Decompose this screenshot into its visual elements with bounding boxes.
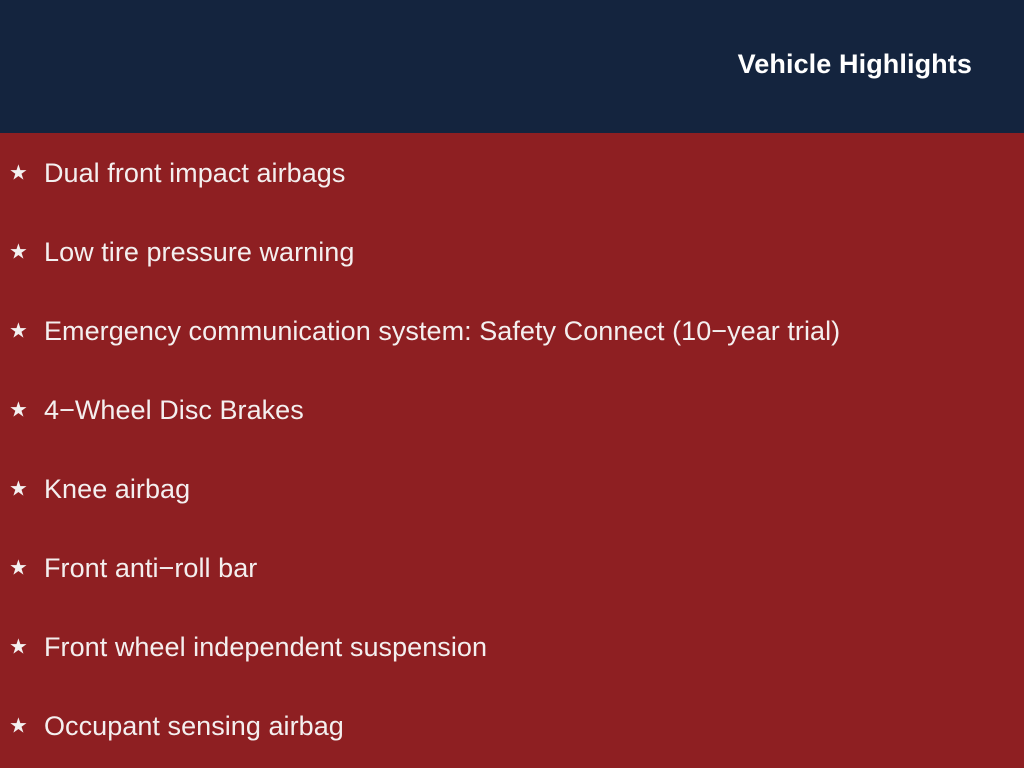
list-item-label: Knee airbag	[44, 472, 190, 506]
slide-header-band: Vehicle Highlights	[0, 0, 1024, 133]
star-icon: ★	[9, 557, 31, 578]
star-icon: ★	[9, 241, 31, 262]
list-item-label: Occupant sensing airbag	[44, 709, 344, 743]
star-icon: ★	[9, 478, 31, 499]
star-icon: ★	[9, 715, 31, 736]
list-item: ★ Dual front impact airbags	[0, 133, 1024, 212]
list-item-label: 4−Wheel Disc Brakes	[44, 393, 304, 427]
slide-body: ★ Dual front impact airbags ★ Low tire p…	[0, 133, 1024, 768]
list-item-label: Dual front impact airbags	[44, 156, 345, 190]
list-item-label: Emergency communication system: Safety C…	[44, 314, 840, 348]
star-icon: ★	[9, 636, 31, 657]
star-icon: ★	[9, 320, 31, 341]
list-item-label: Front wheel independent suspension	[44, 630, 487, 664]
page-title: Vehicle Highlights	[738, 47, 972, 81]
list-item: ★ Emergency communication system: Safety…	[0, 291, 1024, 370]
star-icon: ★	[9, 399, 31, 420]
list-item: ★ Front anti−roll bar	[0, 528, 1024, 607]
list-item: ★ Knee airbag	[0, 449, 1024, 528]
list-item: ★ 4−Wheel Disc Brakes	[0, 370, 1024, 449]
list-item: ★ Occupant sensing airbag	[0, 686, 1024, 765]
list-item: ★ Low tire pressure warning	[0, 212, 1024, 291]
vehicle-highlights-slide: Vehicle Highlights ★ Dual front impact a…	[0, 0, 1024, 768]
vehicle-highlights-list: ★ Dual front impact airbags ★ Low tire p…	[0, 133, 1024, 765]
list-item-label: Front anti−roll bar	[44, 551, 257, 585]
list-item: ★ Front wheel independent suspension	[0, 607, 1024, 686]
list-item-label: Low tire pressure warning	[44, 235, 354, 269]
star-icon: ★	[9, 162, 31, 183]
